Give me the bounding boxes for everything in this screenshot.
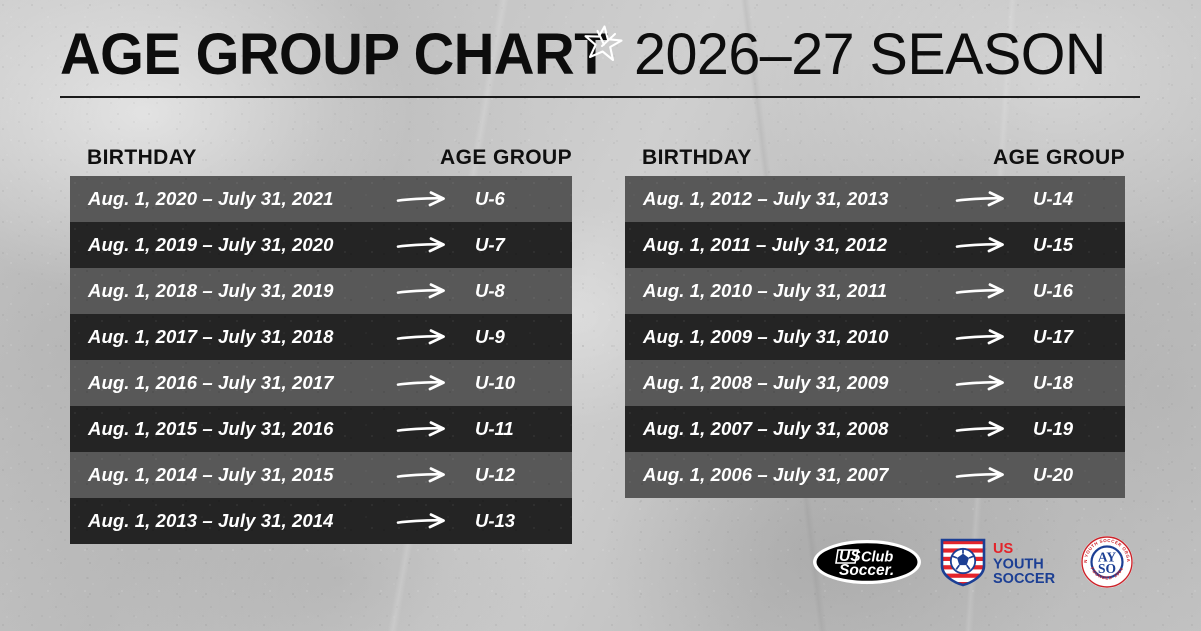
- row-birthday-range: Aug. 1, 2019 – July 31, 2020: [88, 234, 334, 256]
- row-birthday-range: Aug. 1, 2018 – July 31, 2019: [88, 280, 334, 302]
- arrow-right-icon: [955, 372, 1011, 394]
- title-season: 2026–27 SEASON: [634, 26, 1106, 84]
- arrow-right-icon: [396, 418, 452, 440]
- row-birthday-range: Aug. 1, 2014 – July 31, 2015: [88, 464, 334, 486]
- arrow-right-icon: [396, 510, 452, 532]
- row-age-group: U-11: [475, 418, 514, 440]
- row-age-group: U-17: [1033, 326, 1073, 348]
- svg-text:SO: SO: [1098, 561, 1116, 576]
- row-birthday-range: Aug. 1, 2007 – July 31, 2008: [643, 418, 889, 440]
- arrow-right-icon: [955, 464, 1011, 486]
- arrow-right-icon: [955, 464, 1011, 486]
- arrow-right-icon: [396, 326, 452, 348]
- row-age-group: U-6: [475, 188, 505, 210]
- ayso-logo-text: AYSO: [1080, 589, 1081, 590]
- arrow-right-icon: [955, 418, 1011, 440]
- table-row: Aug. 1, 2013 – July 31, 2014U-13: [70, 498, 572, 544]
- age-group-table-left: BIRTHDAY AGE GROUP Aug. 1, 2020 – July 3…: [70, 140, 572, 544]
- arrow-right-icon: [955, 234, 1011, 256]
- age-group-chart-page: AGE GROUP CHART 2026–27 SEASON BIRTHDAY …: [0, 0, 1201, 631]
- arrow-right-icon: [396, 326, 452, 348]
- us-club-soccer-logo: US Club Soccer. Soccer.: [812, 539, 922, 585]
- arrow-right-icon: [955, 280, 1011, 302]
- arrow-right-icon: [396, 280, 452, 302]
- us-youth-soccer-logo-text: YOUTH: [938, 588, 939, 589]
- row-birthday-range: Aug. 1, 2013 – July 31, 2014: [88, 510, 334, 532]
- arrow-right-icon: [396, 188, 452, 210]
- sanctioning-body-logos: US Club Soccer. Soccer.: [812, 534, 1142, 590]
- row-birthday-range: Aug. 1, 2012 – July 31, 2013: [643, 188, 889, 210]
- table-row: Aug. 1, 2014 – July 31, 2015U-12: [70, 452, 572, 498]
- table-row: Aug. 1, 2010 – July 31, 2011U-16: [625, 268, 1125, 314]
- svg-text:US: US: [993, 541, 1013, 557]
- arrow-right-icon: [955, 372, 1011, 394]
- table-row: Aug. 1, 2020 – July 31, 2021U-6: [70, 176, 572, 222]
- table-rows-left: Aug. 1, 2020 – July 31, 2021U-6Aug. 1, 2…: [70, 176, 572, 544]
- ayso-logo: AMERICAN YOUTH SOCCER ORGANIZATION FOUND…: [1080, 535, 1134, 589]
- table-row: Aug. 1, 2016 – July 31, 2017U-10: [70, 360, 572, 406]
- us-club-soccer-logo-text: Soccer.: [812, 585, 813, 586]
- arrow-right-icon: [396, 188, 452, 210]
- arrow-right-icon: [396, 280, 452, 302]
- table-row: Aug. 1, 2018 – July 31, 2019U-8: [70, 268, 572, 314]
- title-main: AGE GROUP CHART: [60, 26, 608, 84]
- row-birthday-range: Aug. 1, 2008 – July 31, 2009: [643, 372, 889, 394]
- arrow-right-icon: [396, 234, 452, 256]
- title-divider: [60, 96, 1140, 98]
- table-row: Aug. 1, 2015 – July 31, 2016U-11: [70, 406, 572, 452]
- age-group-table-right: BIRTHDAY AGE GROUP Aug. 1, 2012 – July 3…: [625, 140, 1125, 498]
- arrow-right-icon: [396, 372, 452, 394]
- row-birthday-range: Aug. 1, 2020 – July 31, 2021: [88, 188, 334, 210]
- table-row: Aug. 1, 2019 – July 31, 2020U-7: [70, 222, 572, 268]
- column-headers-left: BIRTHDAY AGE GROUP: [70, 140, 572, 176]
- arrow-right-icon: [396, 234, 452, 256]
- arrow-right-icon: [955, 326, 1011, 348]
- row-birthday-range: Aug. 1, 2009 – July 31, 2010: [643, 326, 889, 348]
- table-rows-right: Aug. 1, 2012 – July 31, 2013U-14Aug. 1, …: [625, 176, 1125, 498]
- row-age-group: U-7: [475, 234, 505, 256]
- arrow-right-icon: [396, 464, 452, 486]
- row-age-group: U-15: [1033, 234, 1073, 256]
- table-row: Aug. 1, 2012 – July 31, 2013U-14: [625, 176, 1125, 222]
- table-row: Aug. 1, 2009 – July 31, 2010U-17: [625, 314, 1125, 360]
- arrow-right-icon: [396, 510, 452, 532]
- table-row: Aug. 1, 2006 – July 31, 2007U-20: [625, 452, 1125, 498]
- column-header-birthday: BIRTHDAY: [87, 146, 197, 170]
- svg-text:SOCCER: SOCCER: [993, 571, 1056, 587]
- row-age-group: U-18: [1033, 372, 1073, 394]
- arrow-right-icon: [955, 188, 1011, 210]
- column-header-age-group: AGE GROUP: [993, 146, 1125, 170]
- table-row: Aug. 1, 2008 – July 31, 2009U-18: [625, 360, 1125, 406]
- row-birthday-range: Aug. 1, 2017 – July 31, 2018: [88, 326, 334, 348]
- arrow-right-icon: [396, 418, 452, 440]
- row-birthday-range: Aug. 1, 2016 – July 31, 2017: [88, 372, 334, 394]
- row-age-group: U-9: [475, 326, 505, 348]
- us-youth-soccer-logo: US YOUTH SOCCER YOUTH: [938, 536, 1066, 588]
- arrow-right-icon: [955, 188, 1011, 210]
- row-birthday-range: Aug. 1, 2011 – July 31, 2012: [643, 234, 887, 256]
- row-birthday-range: Aug. 1, 2006 – July 31, 2007: [643, 464, 889, 486]
- row-age-group: U-12: [475, 464, 515, 486]
- table-row: Aug. 1, 2007 – July 31, 2008U-19: [625, 406, 1125, 452]
- svg-text:Soccer.: Soccer.: [839, 562, 894, 579]
- row-age-group: U-8: [475, 280, 505, 302]
- arrow-right-icon: [955, 326, 1011, 348]
- row-age-group: U-16: [1033, 280, 1073, 302]
- row-birthday-range: Aug. 1, 2015 – July 31, 2016: [88, 418, 334, 440]
- column-header-age-group: AGE GROUP: [440, 146, 572, 170]
- page-title: AGE GROUP CHART 2026–27 SEASON: [60, 26, 1141, 88]
- row-age-group: U-14: [1033, 188, 1073, 210]
- row-age-group: U-13: [475, 510, 515, 532]
- table-row: Aug. 1, 2011 – July 31, 2012U-15: [625, 222, 1125, 268]
- row-age-group: U-19: [1033, 418, 1073, 440]
- arrow-right-icon: [396, 464, 452, 486]
- arrow-right-icon: [955, 280, 1011, 302]
- column-header-birthday: BIRTHDAY: [642, 146, 752, 170]
- row-age-group: U-20: [1033, 464, 1073, 486]
- row-birthday-range: Aug. 1, 2010 – July 31, 2011: [643, 280, 887, 302]
- table-row: Aug. 1, 2017 – July 31, 2018U-9: [70, 314, 572, 360]
- column-headers-right: BIRTHDAY AGE GROUP: [625, 140, 1125, 176]
- arrow-right-icon: [955, 234, 1011, 256]
- arrow-right-icon: [955, 418, 1011, 440]
- row-age-group: U-10: [475, 372, 515, 394]
- arrow-right-icon: [396, 372, 452, 394]
